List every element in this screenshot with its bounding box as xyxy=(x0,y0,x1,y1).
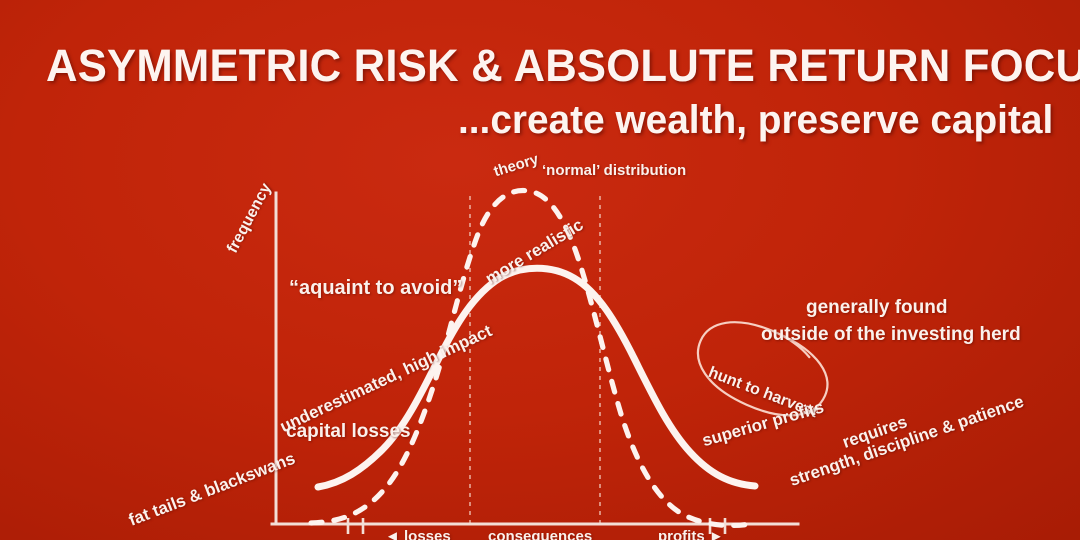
distribution-chart xyxy=(0,0,1080,540)
annotation-aquaint-to-avoid: “aquaint to avoid” xyxy=(289,277,462,299)
x-axis-label-losses: ◄ losses xyxy=(385,529,451,540)
x-axis-label-consequences: consequences xyxy=(488,529,592,540)
annotation-normal-distribution: ‘normal’ distribution xyxy=(542,163,686,180)
annotation-generally-found: generally found xyxy=(806,297,947,318)
slide-canvas: ASYMMETRIC RISK & ABSOLUTE RETURN FOCUS … xyxy=(0,0,1080,540)
annotation-capital-losses: capital losses xyxy=(286,421,411,442)
annotation-outside-investing-herd: outside of the investing herd xyxy=(761,324,1021,345)
normal-distribution-curve xyxy=(311,191,751,526)
x-axis-label-profits: profits ► xyxy=(658,529,724,540)
